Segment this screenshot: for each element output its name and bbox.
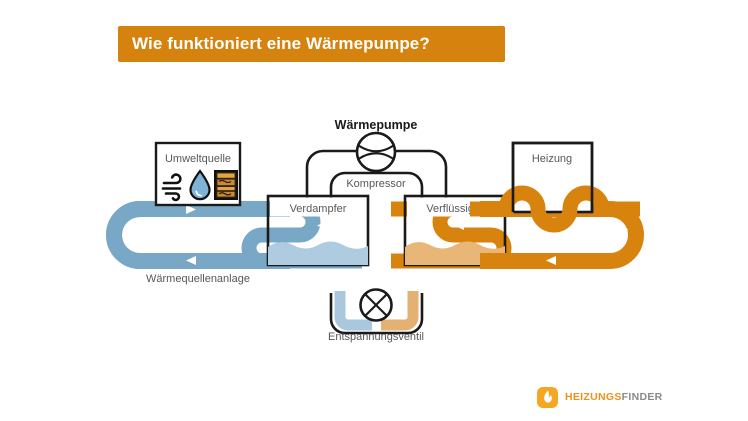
- logo-text-primary: HEIZUNGS: [565, 391, 622, 403]
- title-banner: Wie funktioniert eine Wärmepumpe?: [118, 26, 505, 62]
- flow-arrow-down-hot: [619, 229, 628, 239]
- waermequellenanlage-label: Wärmequellenanlage: [146, 273, 250, 285]
- evaporator-liquid: [268, 242, 368, 268]
- ground-soil-icon: [215, 171, 237, 199]
- kompressor-label: Kompressor: [346, 178, 406, 190]
- heat-pump-diagram: Umweltquelle W: [0, 95, 748, 365]
- page-title: Wie funktioniert eine Wärmepumpe?: [118, 34, 430, 54]
- heizungsfinder-logo[interactable]: HEIZUNGSFINDER: [537, 386, 663, 408]
- verdampfer-label: Verdampfer: [290, 203, 347, 215]
- logo-wordmark: HEIZUNGSFINDER: [565, 391, 663, 403]
- waermepumpe-heading: Wärmepumpe: [335, 118, 418, 132]
- entspannungsventil-label: Entspannungsventil: [328, 331, 424, 343]
- heizung-group: Heizung: [470, 143, 640, 225]
- umweltquelle-box: Umweltquelle: [156, 143, 240, 205]
- flow-arrow-up-cold: [123, 230, 132, 240]
- expansion-valve-x-icon: [361, 290, 392, 321]
- compressor-circle-icon: [357, 133, 395, 171]
- umweltquelle-label: Umweltquelle: [165, 153, 231, 165]
- verdampfer-group: Verdampfer: [249, 196, 368, 267]
- flame-icon: [537, 387, 558, 408]
- infographic-canvas: Wie funktioniert eine Wärmepumpe?: [0, 0, 748, 421]
- logo-text-secondary: FINDER: [622, 391, 663, 403]
- heizung-label: Heizung: [532, 153, 572, 165]
